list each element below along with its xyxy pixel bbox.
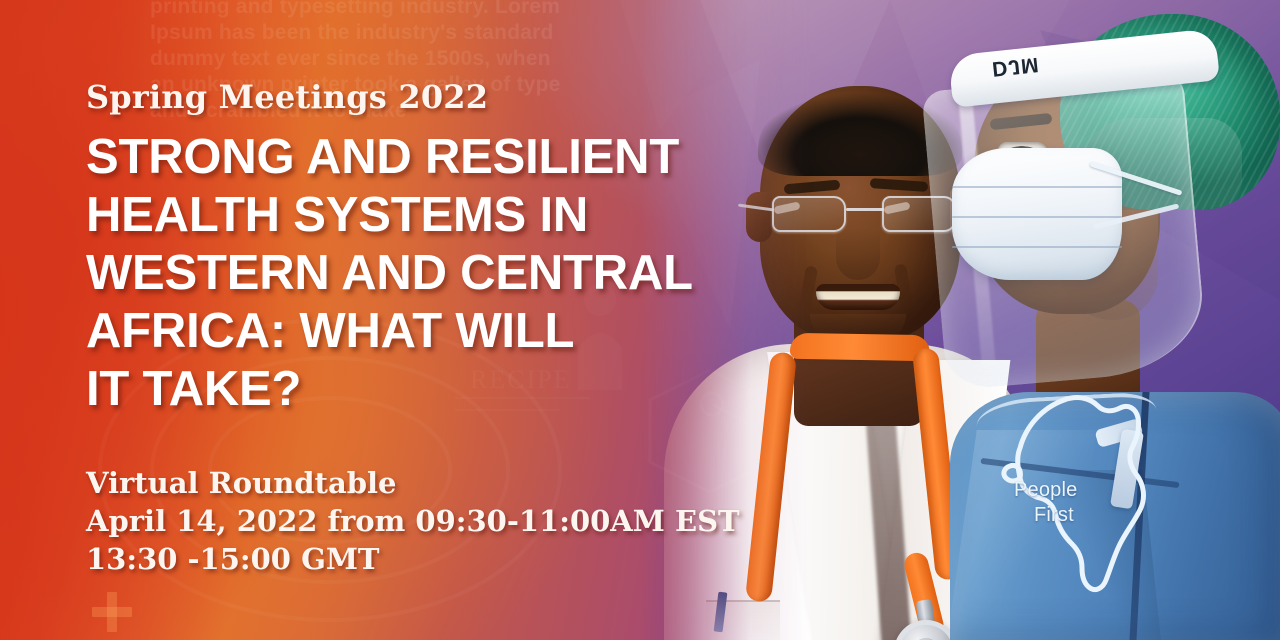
event-details: Virtual Roundtable April 14, 2022 from 0…	[86, 464, 786, 578]
page-title: STRONG AND RESILIENT HEALTH SYSTEMS IN W…	[86, 128, 786, 418]
nurse-figure: DJM People First	[940, 0, 1280, 640]
headline-line-1: STRONG AND RESILIENT	[86, 128, 786, 186]
logo-line-1: People	[1014, 478, 1077, 503]
event-series-label: Spring Meetings 2022	[86, 78, 786, 116]
plus-icon-bottom-left	[92, 592, 132, 632]
event-banner: RECIPE printing and typesetting industry…	[0, 0, 1280, 640]
headline-line-5: IT TAKE?	[86, 360, 786, 418]
people-first-logo: People First	[986, 382, 1166, 604]
event-datetime-est: April 14, 2022 from 09:30-11:00AM EST	[86, 502, 786, 540]
headline-line-4: AFRICA: WHAT WILL	[86, 302, 786, 360]
logo-line-2: First	[1034, 503, 1077, 528]
event-datetime-gmt: 13:30 -15:00 GMT	[86, 540, 786, 578]
banner-text-block: Spring Meetings 2022 STRONG AND RESILIEN…	[86, 78, 786, 578]
mask-pleat-2	[952, 216, 1122, 218]
headline-line-2: HEALTH SYSTEMS IN	[86, 186, 786, 244]
face-shield-brand-label: DJM	[991, 52, 1041, 81]
headline-line-3: WESTERN AND CENTRAL	[86, 244, 786, 302]
people-first-label: People First	[1014, 478, 1077, 528]
mask-pleat-1	[952, 186, 1122, 188]
stethoscope-neck-tube	[790, 333, 930, 361]
mask-pleat-3	[952, 246, 1122, 248]
event-format-label: Virtual Roundtable	[86, 464, 786, 502]
